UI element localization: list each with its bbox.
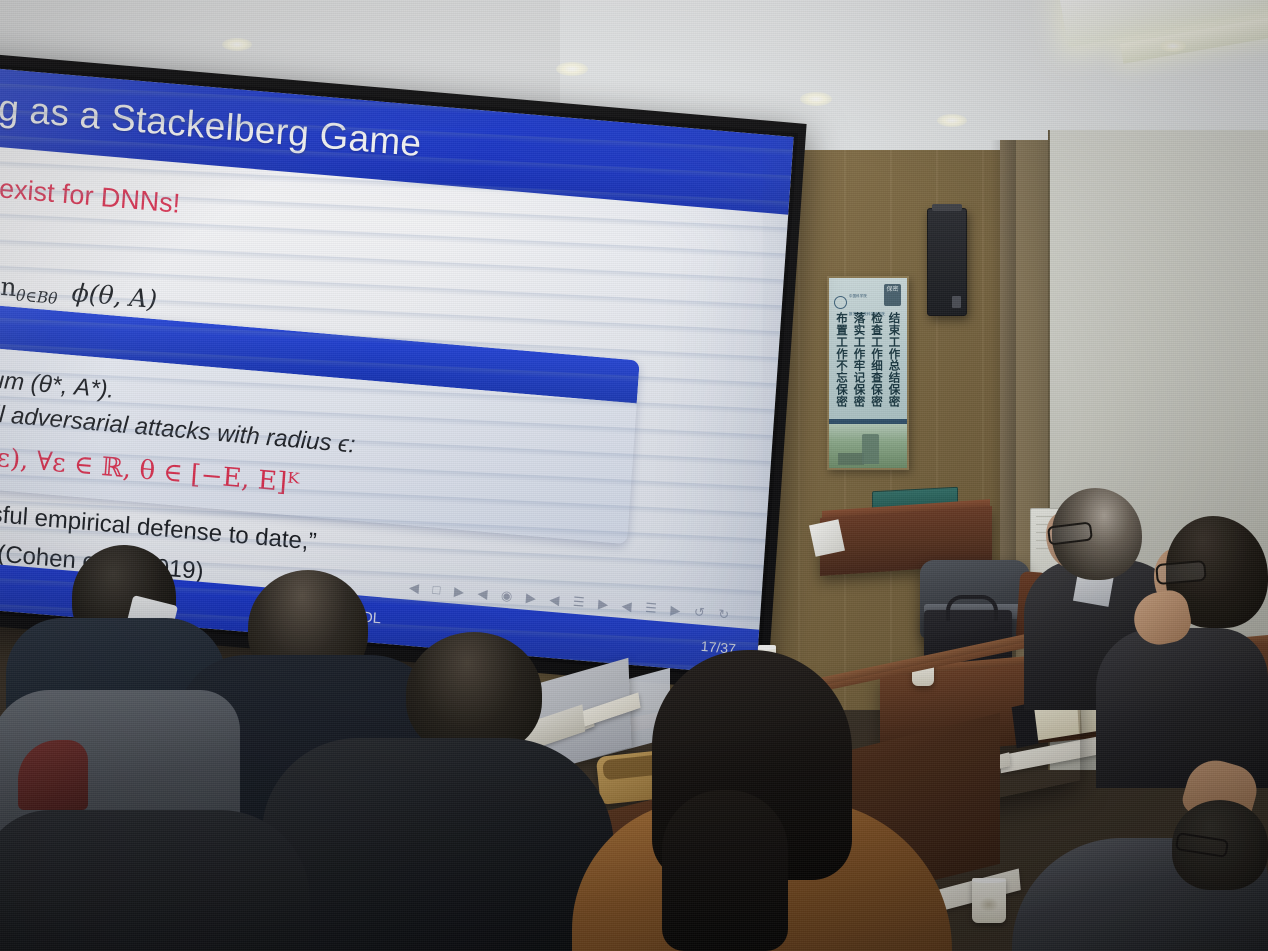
person-torso <box>1096 628 1268 788</box>
downlight <box>800 92 832 106</box>
math-min-subscript: θ∈Bθ <box>15 286 58 308</box>
person-torso <box>262 738 614 951</box>
poster-column: 检查工作细查保密 <box>870 312 883 432</box>
downlight <box>556 62 588 76</box>
paper-cup <box>972 878 1006 923</box>
podium-paper <box>809 519 845 557</box>
draped-jacket <box>0 810 310 951</box>
poster-column: 结束工作总结保密 <box>888 312 901 432</box>
lecture-room-photo: 中国科学院 数学与系统科学研究院 保密 结束工作总结保密 检查工作细查保密 落实… <box>0 0 1268 951</box>
downlight <box>222 38 252 51</box>
poster-text-columns: 结束工作总结保密 检查工作细查保密 落实工作牢记保密 布置工作不忘保密 <box>833 312 903 432</box>
downlight <box>937 114 967 127</box>
podium-base <box>858 565 908 664</box>
ponytail <box>662 790 788 951</box>
poster-photo <box>829 424 907 468</box>
security-poster: 中国科学院 数学与系统科学研究院 保密 结束工作总结保密 检查工作细查保密 落实… <box>827 276 909 470</box>
downlight <box>1160 40 1186 52</box>
wall-speaker-icon <box>927 208 967 316</box>
poster-column: 布置工作不忘保密 <box>835 312 848 432</box>
eyeglasses-icon <box>1155 560 1207 585</box>
math-min-expr: ϕ(θ, A) <box>71 278 158 314</box>
poster-column: 落实工作牢记保密 <box>853 312 866 432</box>
poster-org-line1: 中国科学院 <box>849 294 867 298</box>
poster-stamp: 保密 <box>884 284 901 306</box>
seal-icon <box>834 296 847 309</box>
